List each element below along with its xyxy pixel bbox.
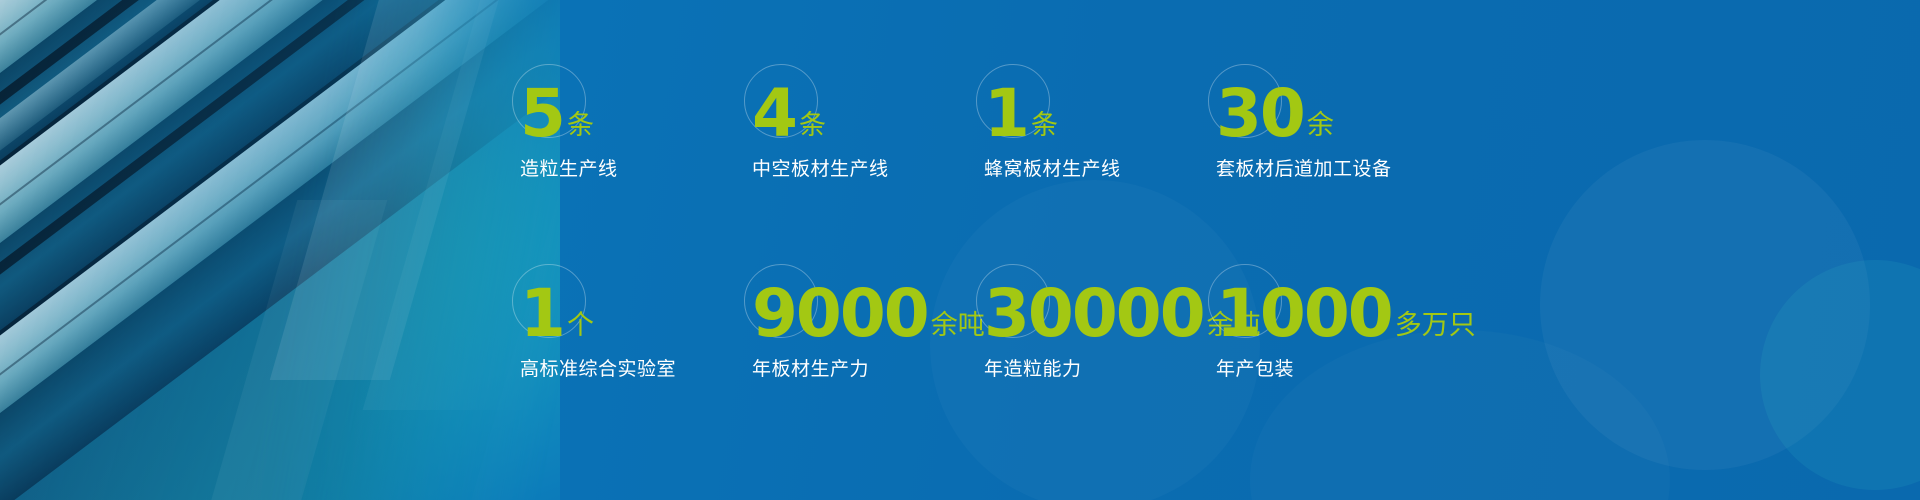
stat-item: 5 条 造粒生产线 — [520, 58, 752, 258]
stat-number: 9000 — [752, 284, 928, 343]
stat-figure: 1 条 — [984, 84, 1058, 143]
stat-item: 30 余 套板材后道加工设备 — [1216, 58, 1448, 258]
stat-number: 1000 — [1216, 284, 1392, 343]
stat-label: 年板材生产力 — [752, 354, 869, 381]
stat-unit: 条 — [567, 112, 594, 139]
stat-unit: 多万只 — [1395, 312, 1476, 339]
stat-figure: 9000 余吨 — [752, 284, 985, 343]
stat-label: 蜂窝板材生产线 — [984, 154, 1121, 181]
stat-unit: 条 — [799, 112, 826, 139]
stat-unit: 个 — [567, 312, 594, 339]
stat-item: 1 条 蜂窝板材生产线 — [984, 58, 1216, 258]
stats-grid: 5 条 造粒生产线 4 条 中空板材生产线 1 条 蜂窝板材生产线 30 — [520, 58, 1850, 458]
stat-item: 9000 余吨 年板材生产力 — [752, 258, 984, 458]
stat-item: 30000 余吨 年造粒能力 — [984, 258, 1216, 458]
stat-item: 1000 多万只 年产包装 — [1216, 258, 1448, 458]
stat-unit: 条 — [1031, 112, 1058, 139]
stat-number: 5 — [520, 84, 564, 143]
stat-label: 中空板材生产线 — [752, 154, 889, 181]
capability-stats-banner: 5 条 造粒生产线 4 条 中空板材生产线 1 条 蜂窝板材生产线 30 — [0, 0, 1920, 500]
stat-number: 30 — [1216, 84, 1304, 143]
stat-figure: 1000 多万只 — [1216, 284, 1476, 343]
stat-label: 造粒生产线 — [520, 154, 618, 181]
stat-number: 1 — [520, 284, 564, 343]
stat-figure: 1 个 — [520, 284, 594, 343]
stat-number: 1 — [984, 84, 1028, 143]
stat-unit: 余吨 — [931, 312, 985, 339]
stat-figure: 4 条 — [752, 84, 826, 143]
stat-figure: 5 条 — [520, 84, 594, 143]
stat-item: 4 条 中空板材生产线 — [752, 58, 984, 258]
stat-number: 30000 — [984, 284, 1204, 343]
architecture-louver-facade-photo — [0, 0, 560, 500]
stat-label: 年造粒能力 — [984, 354, 1082, 381]
stat-figure: 30 余 — [1216, 84, 1334, 143]
stat-label: 高标准综合实验室 — [520, 354, 676, 381]
stat-label: 套板材后道加工设备 — [1216, 154, 1392, 181]
stat-label: 年产包装 — [1216, 354, 1294, 381]
stat-number: 4 — [752, 84, 796, 143]
stat-item: 1 个 高标准综合实验室 — [520, 258, 752, 458]
stat-unit: 余 — [1307, 112, 1334, 139]
